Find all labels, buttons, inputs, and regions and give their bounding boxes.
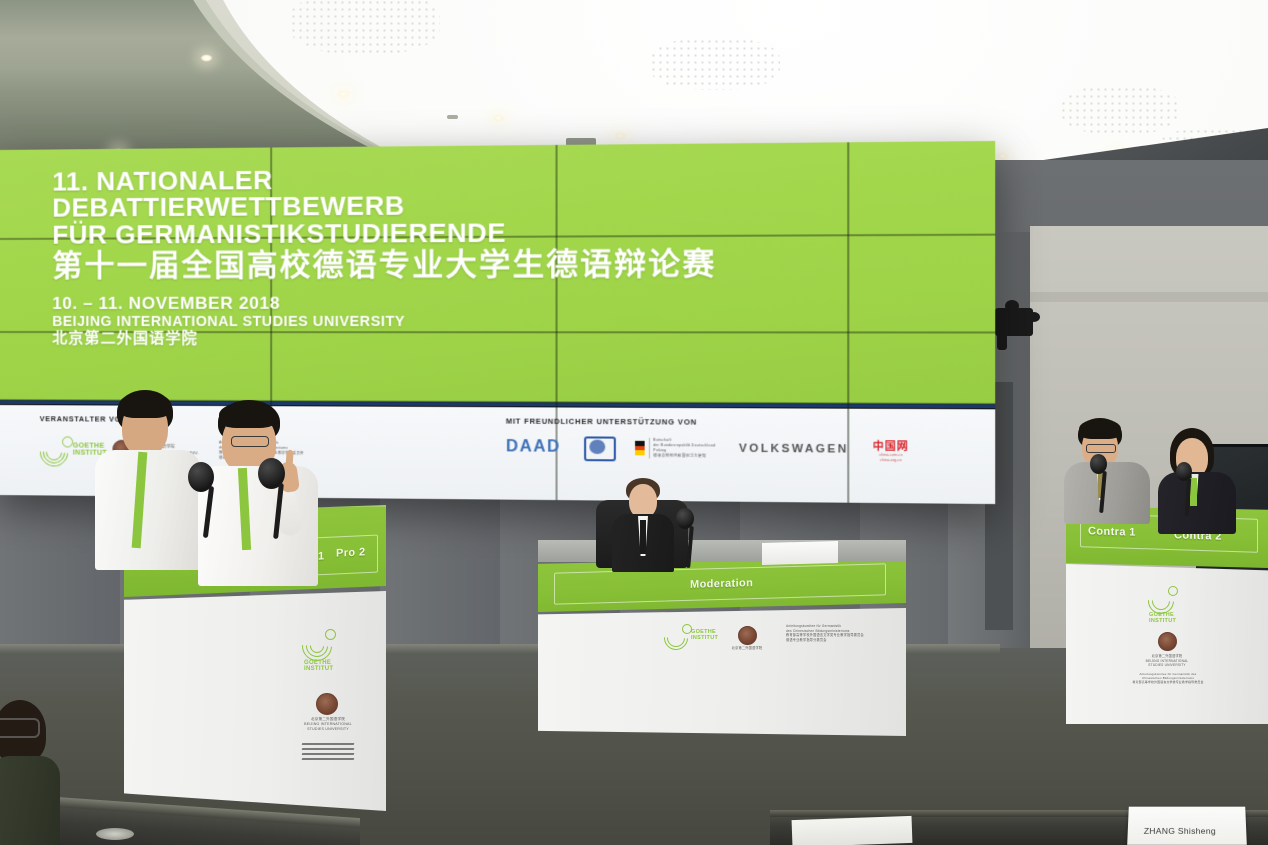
acoustic-perforation-panel — [290, 0, 440, 54]
goethe-institut-logo: GOETHEINSTITUT — [302, 627, 348, 673]
microphone — [1090, 454, 1118, 510]
camera-lens-icon — [1028, 312, 1040, 322]
event-university-chinese: 北京第二外国语学院 — [52, 331, 931, 347]
camera-mount — [997, 334, 1007, 350]
goethe-institut-logo: GOETHEINSTITUT — [1148, 584, 1188, 626]
supporter-block: MIT FREUNDLICHER UNTERSTÜTZUNG VON DAAD … — [506, 416, 909, 504]
pro-2-label: Pro 2 — [336, 546, 366, 559]
acoustic-perforation-panel — [1060, 86, 1180, 134]
glasses-icon — [1086, 444, 1116, 453]
wall-camera — [995, 308, 1033, 336]
right-wall-reveal — [1030, 292, 1268, 302]
moderation-podium: Moderation GOETHEINSTITUT 北京第二外国语学院 Anle… — [538, 556, 906, 736]
ceiling-downlight — [337, 90, 350, 98]
microphone — [188, 462, 228, 532]
pro-podium-body — [124, 591, 386, 811]
moderator-papers — [762, 541, 838, 565]
ceiling-downlight — [614, 132, 627, 140]
glasses-icon — [0, 718, 40, 738]
podium-university-text: 北京第二外国语学院 — [726, 646, 768, 651]
microphone — [676, 508, 706, 564]
moderation-label: Moderation — [690, 577, 753, 591]
video-wall-headline: 11. NATIONALER DEBATTIERWETTBEWERB FÜR G… — [52, 161, 931, 347]
debate-hall-scene: 11. NATIONALER DEBATTIERWETTBEWERB FÜR G… — [0, 0, 1268, 845]
ceiling-downlight — [200, 54, 213, 62]
china-org-logo: 中国网 china.com.cnchina.org.cn — [873, 437, 909, 463]
audience-member — [0, 700, 64, 845]
ceiling-downlight — [492, 114, 505, 122]
supporter-label: MIT FREUNDLICHER UNTERSTÜTZUNG VON — [506, 416, 909, 427]
nameplate-text: ZHANG Shisheng — [1144, 826, 1216, 836]
contra-1-label: Contra 1 — [1088, 525, 1136, 539]
goethe-institut-logo: GOETHEINSTITUT — [40, 432, 92, 466]
university-seal-logo — [738, 626, 757, 645]
ceiling-downlight — [996, 152, 1009, 160]
podium-university-text: 北京第二外国语学院BEIJING INTERNATIONAL STUDIES U… — [1138, 654, 1196, 668]
desk-cable-grommet — [96, 828, 134, 840]
foreground-papers — [792, 816, 913, 845]
ceiling-sensor — [447, 115, 458, 119]
university-seal-logo — [316, 693, 338, 715]
headline-chinese: 第十一届全国高校德语专业大学生德语辩论赛 — [52, 248, 931, 282]
tie — [640, 520, 646, 554]
moderation-desk-surface — [538, 540, 906, 562]
podium-university-text: 北京第二外国语学院BEIJING INTERNATIONAL STUDIES U… — [298, 717, 358, 733]
goethe-institut-logo: GOETHEINSTITUT — [664, 624, 708, 650]
volkswagen-logo: VOLKSWAGEN — [739, 443, 849, 456]
camera-lens-icon — [1005, 300, 1019, 312]
microphone — [1176, 462, 1204, 514]
contra-podium: Contra 1 Contra 2 GOETHEINSTITUT 北京第二外国语… — [1066, 506, 1268, 722]
event-university: BEIJING INTERNATIONAL STUDIES UNIVERSITY — [52, 314, 931, 329]
podium-committee-text: Anleitungskomitee für Germanistik des Ch… — [1132, 672, 1204, 685]
university-seal-logo — [1158, 632, 1177, 651]
csc-logo — [584, 436, 612, 459]
german-embassy-logo: Botschaftder Bundesrepublik DeutschlandP… — [635, 437, 715, 459]
podium-stripe-mark — [302, 743, 354, 760]
podium-committee-text: Anleitungskomitee für Germanistikdes Chi… — [786, 624, 880, 643]
moderator — [612, 478, 676, 568]
microphone — [258, 458, 298, 532]
event-date: 10. – 11. NOVEMBER 2018 — [52, 294, 931, 313]
headline-line-3: FÜR GERMANISTIKSTUDIERENDE — [52, 217, 931, 248]
acoustic-perforation-panel — [650, 38, 780, 90]
daad-logo: DAAD — [506, 438, 561, 457]
glasses-icon — [231, 436, 269, 447]
nameplate: ZHANG Shisheng — [1127, 807, 1247, 845]
